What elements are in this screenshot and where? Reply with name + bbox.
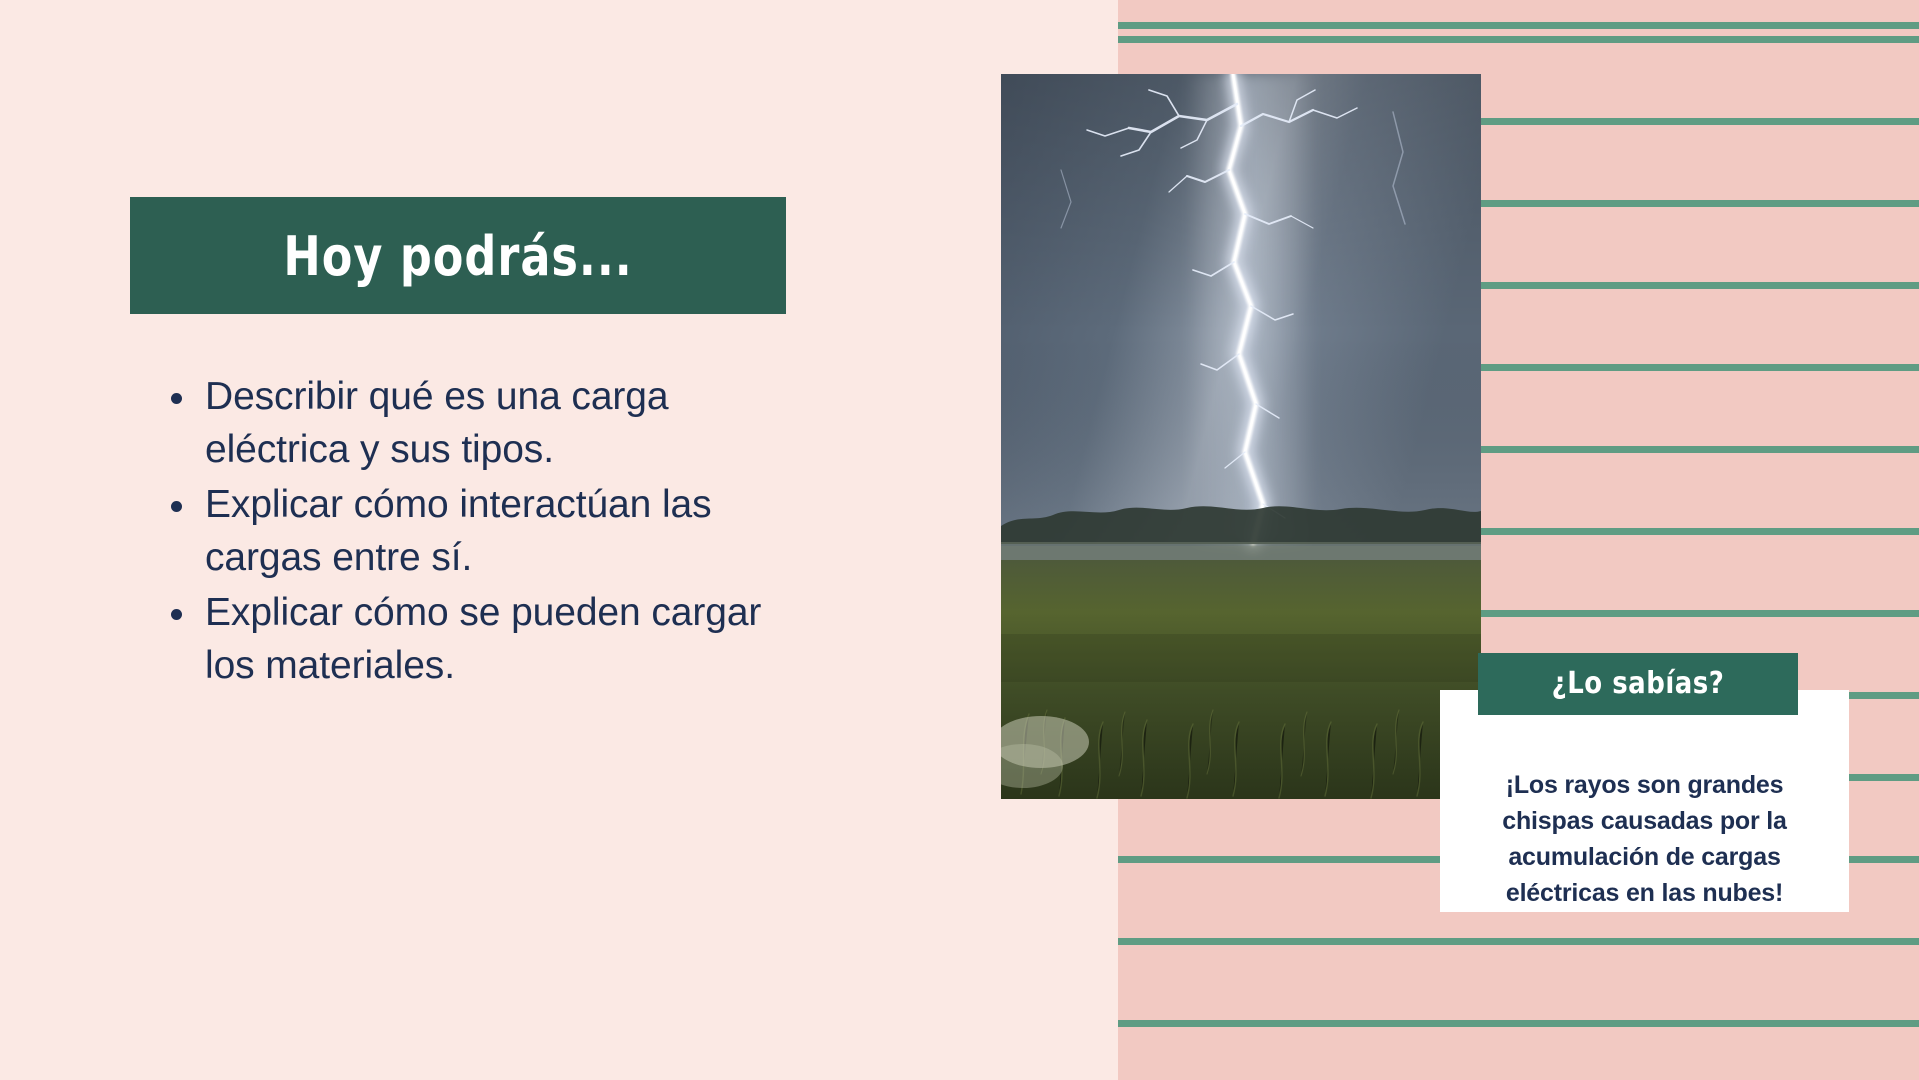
lightning-photo-graphic [1001,74,1481,799]
page-title: Hoy podrás... [283,228,632,282]
lightning-photo [1001,74,1481,799]
did-you-know-card: ¡Los rayos son grandes chispas causadas … [1440,690,1849,912]
slide-canvas: Hoy podrás... Describir qué es una carga… [0,0,1919,1080]
did-you-know-header: ¿Lo sabías? [1478,653,1798,715]
did-you-know-body: ¡Los rayos son grandes chispas causadas … [1460,767,1829,911]
list-item: Explicar cómo interactúan las cargas ent… [163,478,803,584]
title-banner: Hoy podrás... [130,197,786,314]
did-you-know-title: ¿Lo sabías? [1552,667,1725,702]
objectives-list: Describir qué es una carga eléctrica y s… [163,370,803,694]
list-item: Describir qué es una carga eléctrica y s… [163,370,803,476]
left-content-panel: Hoy podrás... Describir qué es una carga… [0,0,1118,1080]
list-item: Explicar cómo se pueden cargar los mater… [163,586,803,692]
